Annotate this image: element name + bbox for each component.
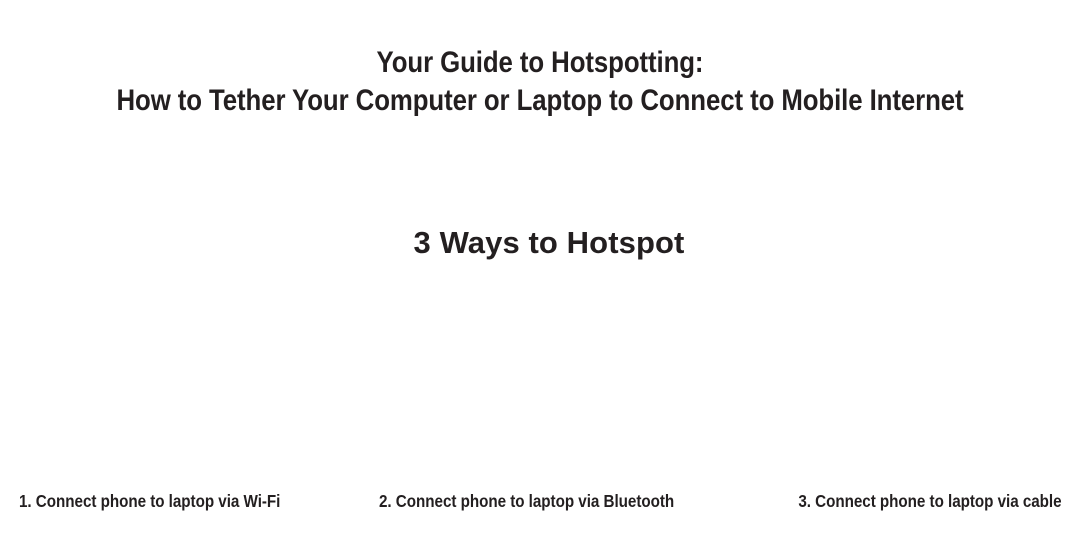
page-title: Your Guide to Hotspotting: How to Tether… bbox=[0, 44, 1080, 120]
method-caption-cable: 3. Connect phone to laptop via cable bbox=[799, 489, 1062, 513]
method-caption-wifi: 1. Connect phone to laptop via Wi-Fi bbox=[19, 489, 280, 513]
infographic-page: Your Guide to Hotspotting: How to Tether… bbox=[0, 0, 1080, 552]
illustration-slot-cable bbox=[720, 282, 1080, 480]
caption-row: 1. Connect phone to laptop via Wi-Fi 2. … bbox=[0, 489, 1080, 515]
method-caption-bluetooth: 2. Connect phone to laptop via Bluetooth bbox=[379, 489, 674, 513]
illustration-band bbox=[0, 282, 1080, 480]
page-title-line-2: How to Tether Your Computer or Laptop to… bbox=[76, 82, 1005, 120]
illustration-slot-bluetooth bbox=[360, 282, 720, 480]
illustration-slot-wifi bbox=[0, 282, 360, 480]
section-heading: 3 Ways to Hotspot bbox=[0, 224, 1080, 262]
page-title-line-1: Your Guide to Hotspotting: bbox=[76, 44, 1005, 82]
section-heading-text: 3 Ways to Hotspot bbox=[396, 224, 685, 262]
